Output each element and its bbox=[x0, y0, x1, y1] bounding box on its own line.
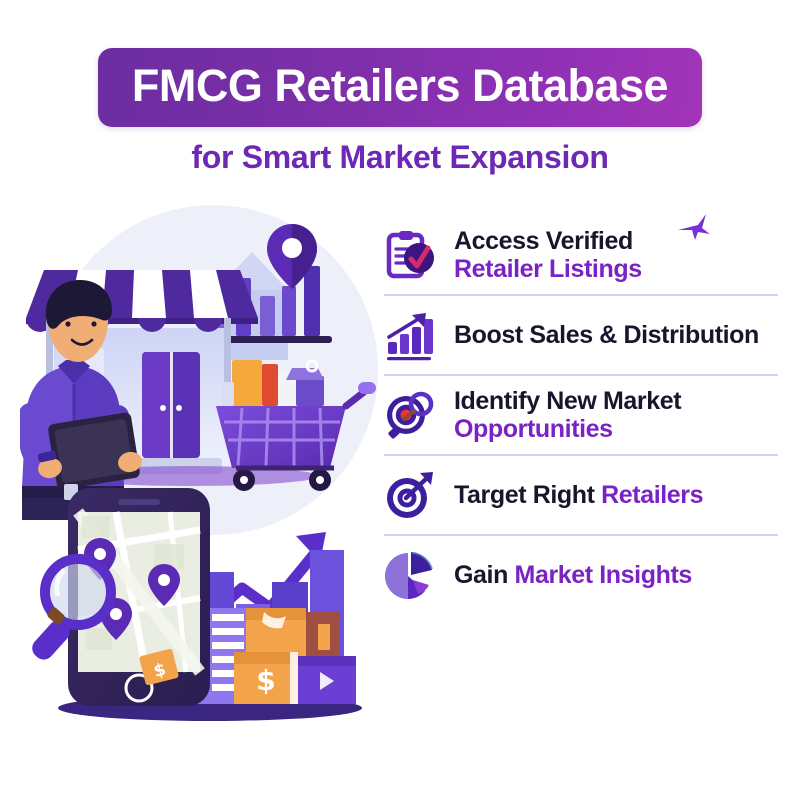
feature-item-identify-new-market-opportunities[interactable]: Identify New Market Opportunities bbox=[378, 378, 778, 452]
bar-chart-growth-icon bbox=[382, 307, 438, 363]
feature-divider bbox=[384, 454, 778, 456]
feature-label-line1: Boost Sales & Distribution bbox=[454, 321, 759, 349]
feature-item-access-verified-retailer-listings[interactable]: Access Verified Retailer Listings bbox=[378, 218, 778, 292]
illustration-artwork: $ $ bbox=[20, 200, 390, 740]
feature-divider bbox=[384, 534, 778, 536]
feature-item-label: Identify New Market Opportunities bbox=[454, 387, 681, 444]
feature-item-target-right-retailers[interactable]: Target Right Retailers bbox=[378, 458, 778, 532]
target-magnifier-icon bbox=[382, 387, 438, 443]
infographic-poster: FMCG Retailers Database for Smart Market… bbox=[0, 0, 800, 800]
feature-label-line2: Retailers bbox=[601, 481, 703, 509]
header: FMCG Retailers Database for Smart Market… bbox=[0, 0, 800, 175]
feature-label-line1: Gain bbox=[454, 561, 515, 589]
pie-chart-icon bbox=[382, 547, 438, 603]
feature-item-boost-sales-distribution[interactable]: Boost Sales & Distribution bbox=[378, 298, 778, 372]
feature-divider bbox=[384, 374, 778, 376]
svg-text:$: $ bbox=[256, 664, 275, 697]
feature-label-line1: Access Verified bbox=[454, 227, 642, 255]
feature-label-line1: Identify New Market bbox=[454, 387, 681, 415]
feature-divider bbox=[384, 294, 778, 296]
dartboard-arrow-icon bbox=[382, 467, 438, 523]
feature-label-line2: Opportunities bbox=[454, 415, 681, 443]
title-banner: FMCG Retailers Database bbox=[98, 48, 702, 127]
feature-list: Access Verified Retailer Listings Boost bbox=[378, 218, 778, 612]
clipboard-check-icon bbox=[382, 227, 438, 283]
feature-label-line2: Market Insights bbox=[515, 561, 692, 589]
page-subtitle: for Smart Market Expansion bbox=[0, 140, 800, 175]
feature-item-label: Target Right Retailers bbox=[454, 481, 703, 509]
page-title: FMCG Retailers Database bbox=[132, 62, 668, 109]
feature-item-label: Access Verified Retailer Listings bbox=[454, 227, 642, 284]
feature-item-gain-market-insights[interactable]: Gain Market Insights bbox=[378, 538, 778, 612]
feature-item-label: Boost Sales & Distribution bbox=[454, 321, 759, 349]
feature-item-label: Gain Market Insights bbox=[454, 561, 692, 589]
feature-label-line2: Retailer Listings bbox=[454, 255, 642, 283]
feature-label-line1: Target Right bbox=[454, 481, 601, 509]
